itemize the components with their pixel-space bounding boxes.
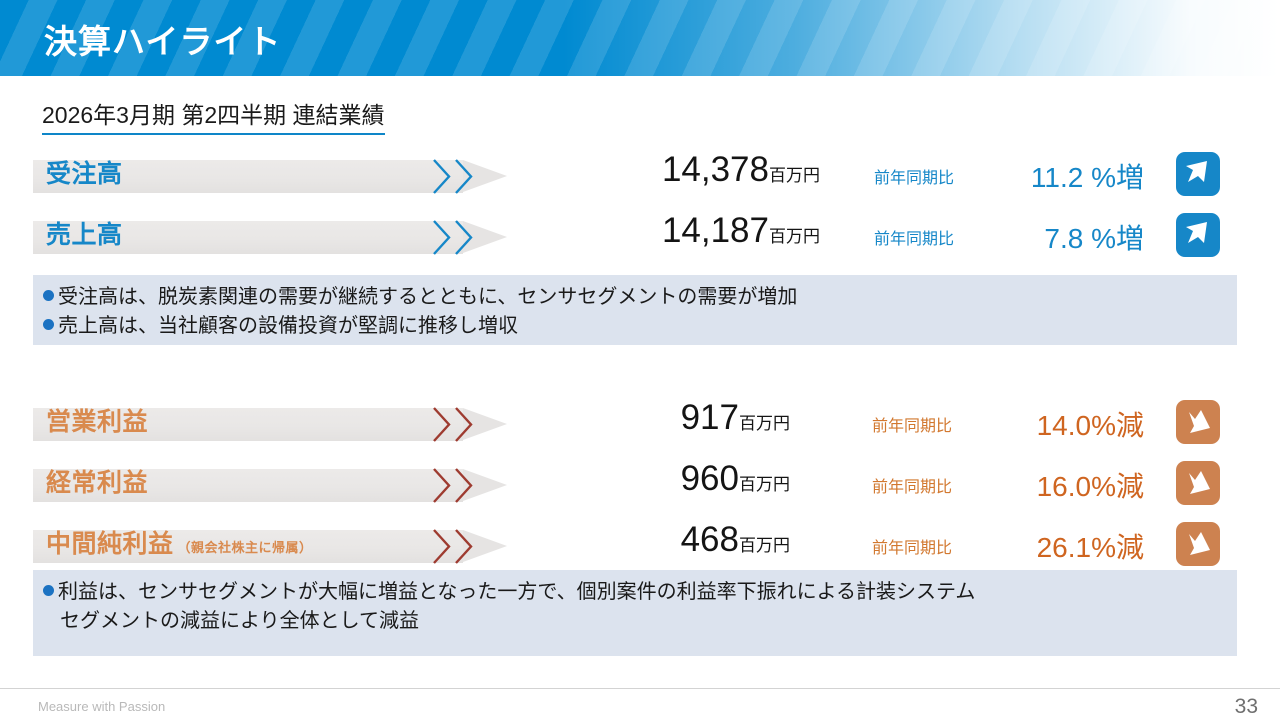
chevron-icon <box>431 526 453 567</box>
comparison-label: 前年同期比 <box>872 534 952 558</box>
change-percent: 14.0%減 <box>986 404 1144 444</box>
metric-label: 営業利益 <box>46 402 148 438</box>
comment-text: 受注高は、脱炭素関連の需要が継続するとともに、センサセグメントの需要が増加 <box>58 286 797 308</box>
metric-label-text: 中間純利益 <box>46 530 174 558</box>
comment-text: 利益は、センサセグメントが大幅に増益となった一方で、個別案件の利益率下振れによる… <box>58 581 975 603</box>
slide: 決算ハイライト 2026年3月期 第2四半期 連結業績 受注高 14,378百万… <box>0 0 1280 720</box>
comparison-label: 前年同期比 <box>874 225 954 249</box>
metric-label-text: 営業利益 <box>46 408 148 436</box>
chevron-icon <box>453 404 475 445</box>
metric-row-ordinary-income: 経常利益 960百万円 前年同期比 16.0%減 <box>0 457 1280 505</box>
footer-tagline: Measure with Passion <box>38 699 165 714</box>
metric-row-net-sales: 売上高 14,187百万円 前年同期比 7.8 %増 <box>0 209 1280 257</box>
metric-value-unit: 百万円 <box>739 536 790 555</box>
page-number: 33 <box>1235 695 1258 719</box>
chevron-icon <box>453 526 475 567</box>
change-percent: 7.8 %増 <box>984 217 1144 257</box>
chevron-icon <box>431 404 453 445</box>
comment-box-upper: 受注高は、脱炭素関連の需要が継続するとともに、センサセグメントの需要が増加 売上… <box>33 275 1237 345</box>
comparison-label: 前年同期比 <box>872 473 952 497</box>
metric-value: 468百万円 <box>560 520 790 560</box>
metric-value-number: 14,378 <box>662 150 769 189</box>
comment-line: 受注高は、脱炭素関連の需要が継続するとともに、センサセグメントの需要が増加 <box>33 283 1237 312</box>
metric-row-orders: 受注高 14,378百万円 前年同期比 11.2 %増 <box>0 148 1280 196</box>
arrow-up-icon <box>1176 213 1220 257</box>
comparison-label: 前年同期比 <box>872 412 952 436</box>
subtitle: 2026年3月期 第2四半期 連結業績 <box>42 96 385 135</box>
bullet-icon <box>43 290 54 301</box>
arrow-up-icon <box>1176 152 1220 196</box>
metric-label: 中間純利益（親会社株主に帰属） <box>46 524 313 560</box>
metric-label-sublabel: （親会社株主に帰属） <box>178 540 313 555</box>
metric-value-unit: 百万円 <box>769 227 820 246</box>
metric-value-unit: 百万円 <box>739 414 790 433</box>
footer-divider <box>0 688 1280 689</box>
comment-line: 利益は、センサセグメントが大幅に増益となった一方で、個別案件の利益率下振れによる… <box>33 578 1237 607</box>
comment-text: 売上高は、当社顧客の設備投資が堅調に推移し増収 <box>58 315 518 337</box>
change-percent: 16.0%減 <box>986 465 1144 505</box>
chevron-icon <box>453 156 475 197</box>
comment-line: セグメントの減益により全体として減益 <box>33 607 1237 636</box>
metric-label-text: 経常利益 <box>46 469 148 497</box>
metric-label: 受注高 <box>46 154 123 190</box>
subtitle-container: 2026年3月期 第2四半期 連結業績 <box>42 96 385 135</box>
comparison-label: 前年同期比 <box>874 164 954 188</box>
comment-text: セグメントの減益により全体として減益 <box>60 610 419 632</box>
metric-value: 14,187百万円 <box>590 211 820 251</box>
metric-label: 売上高 <box>46 215 123 251</box>
change-percent: 11.2 %増 <box>984 156 1144 196</box>
metric-row-operating-income: 営業利益 917百万円 前年同期比 14.0%減 <box>0 396 1280 444</box>
chevron-icon <box>453 465 475 506</box>
comment-line: 売上高は、当社顧客の設備投資が堅調に推移し増収 <box>33 312 1237 341</box>
metric-value: 917百万円 <box>560 398 790 438</box>
bullet-icon <box>43 585 54 596</box>
metric-value: 960百万円 <box>560 459 790 499</box>
chevron-icon <box>431 156 453 197</box>
metric-label-text: 売上高 <box>46 221 123 249</box>
metric-value-unit: 百万円 <box>769 166 820 185</box>
comment-box-lower: 利益は、センサセグメントが大幅に増益となった一方で、個別案件の利益率下振れによる… <box>33 570 1237 656</box>
metric-value: 14,378百万円 <box>590 150 820 190</box>
chevron-icon <box>453 217 475 258</box>
metric-value-number: 468 <box>681 520 739 559</box>
metric-value-number: 14,187 <box>662 211 769 250</box>
metric-value-number: 917 <box>681 398 739 437</box>
metric-label-text: 受注高 <box>46 160 123 188</box>
arrow-down-icon <box>1176 461 1220 505</box>
chevron-icon <box>431 465 453 506</box>
metric-value-number: 960 <box>681 459 739 498</box>
page-title: 決算ハイライト <box>44 15 281 63</box>
metric-row-interim-net-income: 中間純利益（親会社株主に帰属） 468百万円 前年同期比 26.1%減 <box>0 518 1280 566</box>
chevron-icon <box>431 217 453 258</box>
metric-label: 経常利益 <box>46 463 148 499</box>
metric-value-unit: 百万円 <box>739 475 790 494</box>
change-percent: 26.1%減 <box>986 526 1144 566</box>
bullet-icon <box>43 319 54 330</box>
arrow-down-icon <box>1176 400 1220 444</box>
arrow-down-icon <box>1176 522 1220 566</box>
